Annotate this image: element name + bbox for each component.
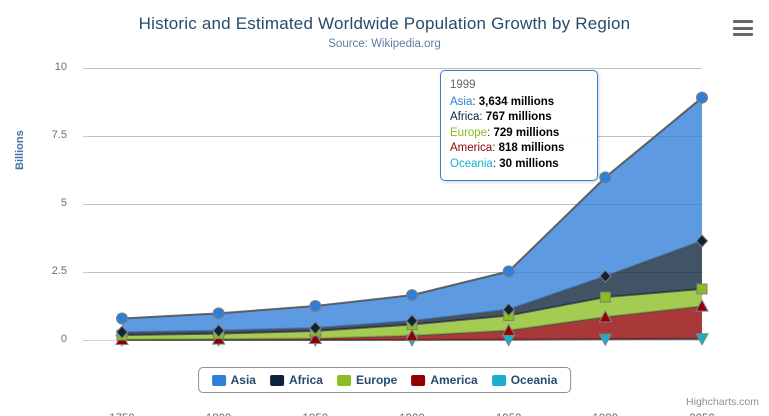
y-axis-tick-label: 2.5 [7,265,67,277]
tooltip-series-value: 30 millions [499,158,558,170]
y-axis-tick-label: 5 [7,197,67,209]
legend-item-label: Asia [231,373,256,387]
tooltip-row: Oceania: 30 millions [450,157,588,173]
legend[interactable]: AsiaAfricaEuropeAmericaOceania [198,367,572,393]
point-marker-asia[interactable] [117,313,128,324]
menu-bar-1 [733,20,753,23]
highcharts-container: Historic and Estimated Worldwide Populat… [0,0,769,416]
plot-area: 1750180018501900195019992050 [88,68,702,340]
point-marker-asia[interactable] [600,172,611,183]
tooltip-series-name: Europe [450,127,487,139]
legend-swatch-icon [492,375,506,386]
point-marker-asia[interactable] [503,266,514,277]
y-axis-tick-label: 0 [7,333,67,345]
series-layer [88,68,702,340]
tooltip-series-value: 767 millions [486,111,552,123]
point-marker-asia[interactable] [407,290,418,301]
legend-swatch-icon [212,375,226,386]
tooltip-row: Africa: 767 millions [450,110,588,126]
legend-item-europe[interactable]: Europe [337,373,397,387]
legend-item-label: Europe [356,373,397,387]
tooltip-series-name: America [450,142,492,154]
chart-title: Historic and Estimated Worldwide Populat… [0,14,769,34]
tooltip-header: 1999 [450,78,588,95]
legend-item-label: America [430,373,477,387]
point-marker-asia[interactable] [213,308,224,319]
legend-item-label: Oceania [511,373,558,387]
tooltip-series-name: Africa [450,111,479,123]
legend-item-oceania[interactable]: Oceania [492,373,558,387]
tooltip-row: America: 818 millions [450,141,588,157]
legend-item-label: Africa [289,373,323,387]
legend-item-africa[interactable]: Africa [270,373,323,387]
tooltip-row: Europe: 729 millions [450,126,588,142]
legend-swatch-icon [337,375,351,386]
chart-subtitle: Source: Wikipedia.org [0,38,769,50]
tooltip-series-name: Asia [450,96,472,108]
tooltip-series-name: Oceania [450,158,493,170]
y-axis-tick-label: 10 [7,61,67,73]
point-marker-europe[interactable] [697,284,707,294]
legend-swatch-icon [270,375,284,386]
menu-bar-3 [733,33,753,36]
legend-item-america[interactable]: America [411,373,477,387]
legend-swatch-icon [411,375,425,386]
menu-bar-2 [733,27,753,30]
y-axis-tick-label: 7.5 [7,129,67,141]
credits-label[interactable]: Highcharts.com [686,396,759,408]
point-marker-asia[interactable] [310,300,321,311]
legend-item-asia[interactable]: Asia [212,373,256,387]
tooltip: 1999 Asia: 3,634 millionsAfrica: 767 mil… [440,70,598,181]
point-marker-asia[interactable] [697,92,708,103]
tooltip-series-value: 729 millions [493,127,559,139]
point-marker-europe[interactable] [600,292,610,302]
tooltip-series-value: 818 millions [499,142,565,154]
tooltip-rows: Asia: 3,634 millionsAfrica: 767 millions… [450,95,588,173]
hamburger-menu-icon[interactable] [731,17,755,39]
tooltip-series-value: 3,634 millions [479,96,554,108]
tooltip-row: Asia: 3,634 millions [450,95,588,111]
